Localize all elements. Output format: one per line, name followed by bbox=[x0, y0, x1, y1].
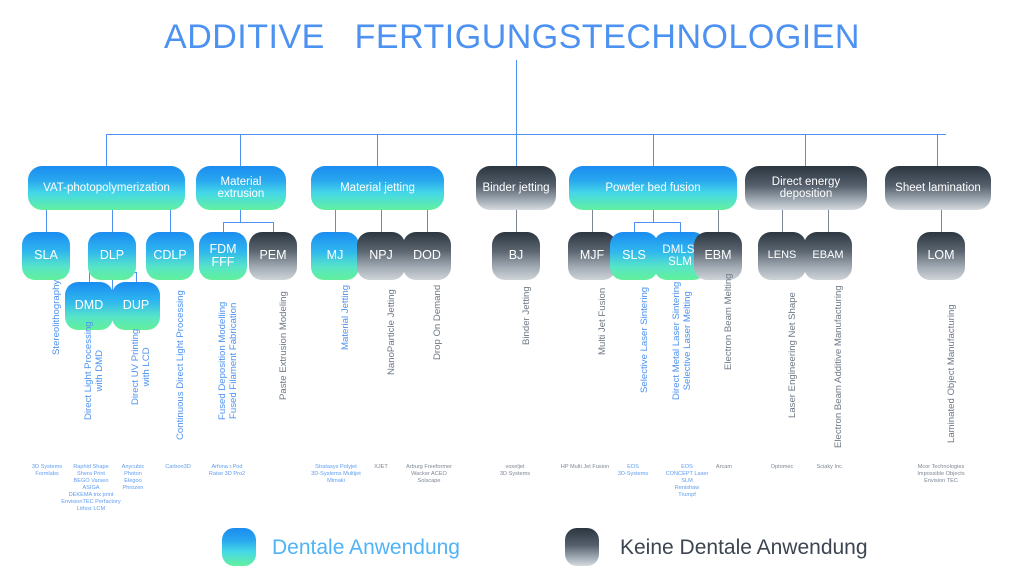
tech-name-fdm-l1: Fused Deposition Modelling bbox=[217, 302, 228, 420]
tech-box-lom[interactable]: LOM bbox=[917, 232, 965, 280]
drop-binder bbox=[516, 134, 517, 166]
vendors-mj: Stratasys Polyjet 3D-Systems Multijet Mi… bbox=[300, 464, 372, 485]
conn-extr-bar bbox=[223, 222, 273, 223]
conn-binder-bj bbox=[516, 210, 517, 232]
tech-name-fdm-l2: Fused Filament Fabrication bbox=[228, 302, 239, 420]
tech-box-lens[interactable]: LENS bbox=[758, 232, 806, 280]
conn-vat-cdlp bbox=[170, 210, 171, 232]
legend-swatch-dental bbox=[222, 528, 256, 566]
tech-name-lom: Laminated Object Manufacturing bbox=[946, 304, 957, 443]
tech-name-ebm: Electron Beam Melting bbox=[723, 273, 734, 370]
tech-name-dod: Drop On Demand bbox=[432, 285, 443, 360]
drop-pbf bbox=[653, 134, 654, 166]
tech-name-dmls-l2: Selective Laser Melting bbox=[682, 282, 693, 400]
legend-label-nondental: Keine Dentale Anwendung bbox=[620, 536, 868, 560]
tech-name-sla: Stereolithography bbox=[51, 280, 62, 355]
conn-ded-ebam bbox=[828, 210, 829, 232]
conn-pbf-bar bbox=[634, 222, 680, 223]
tech-box-dup[interactable]: DUP bbox=[112, 282, 160, 330]
vendors-cdlp: Carbon3D bbox=[155, 464, 201, 471]
conn-vat-dlp bbox=[112, 210, 113, 232]
conn-dlp-dup bbox=[136, 272, 137, 282]
tech-box-npj[interactable]: NPJ bbox=[357, 232, 405, 280]
category-box-sheet[interactable]: Sheet lamination bbox=[885, 166, 991, 210]
vendors-ebm: Arcam bbox=[706, 464, 742, 471]
tech-name-mj: Material Jetting bbox=[340, 285, 351, 350]
tech-label-ebam: EBAM bbox=[812, 250, 843, 262]
tech-label-dmls: DMLS/ SLM bbox=[662, 244, 697, 269]
conn-ded-lens bbox=[782, 210, 783, 232]
tech-name-sls: Selective Laser Sintering bbox=[639, 287, 650, 393]
vendors-lens: Optomec bbox=[760, 464, 804, 471]
tech-name-dmd-l1: Direct Light Processing bbox=[83, 321, 94, 420]
conn-sheet-lom bbox=[941, 210, 942, 232]
tech-box-sla[interactable]: SLA bbox=[22, 232, 70, 280]
vendors-bj: voxeljet 3D Systems bbox=[486, 464, 544, 478]
vendors-fdm: Arfona r.Pod Raise 3D Pro2 bbox=[196, 464, 258, 478]
drop-sheet bbox=[937, 134, 938, 166]
drop-vat bbox=[106, 134, 107, 166]
conn-extr-fdm bbox=[223, 222, 224, 232]
tech-name-mjf: Multi Jet Fusion bbox=[597, 288, 608, 355]
conn-pbf-stem bbox=[653, 210, 654, 222]
conn-mjet-npj bbox=[381, 210, 382, 232]
vendors-ebam: Sciaky Inc. bbox=[808, 464, 852, 471]
conn-vat-sla bbox=[46, 210, 47, 232]
tech-name-dmls-l1: Direct Metal Laser Sintering bbox=[671, 282, 682, 400]
root-trunk-line bbox=[516, 60, 517, 134]
tech-box-dlp[interactable]: DLP bbox=[88, 232, 136, 280]
tech-box-dod[interactable]: DOD bbox=[403, 232, 451, 280]
main-bus-line bbox=[106, 134, 946, 135]
conn-extr-pem bbox=[273, 222, 274, 232]
tech-box-pem[interactable]: PEM bbox=[249, 232, 297, 280]
diagram-canvas: ADDITIVE FERTIGUNGSTECHNOLOGIEN VAT-phot… bbox=[0, 0, 1024, 576]
category-box-extr[interactable]: Material extrusion bbox=[196, 166, 286, 210]
tech-name-pem: Paste Extrusion Modeling bbox=[278, 291, 289, 400]
tech-name-ebam: Electron Beam Additive Manufacturing bbox=[833, 285, 844, 448]
tech-box-ebam[interactable]: EBAM bbox=[804, 232, 852, 280]
drop-ded bbox=[805, 134, 806, 166]
tech-label-lens: LENS bbox=[768, 250, 797, 262]
legend-swatch-nondental bbox=[565, 528, 599, 566]
vendors-sls: EOS 3D-Systems bbox=[606, 464, 660, 478]
tech-name-dup-l2: with LCD bbox=[141, 329, 152, 405]
tech-box-sls[interactable]: SLS bbox=[610, 232, 658, 280]
tech-box-ebm[interactable]: EBM bbox=[694, 232, 742, 280]
conn-pbf-mjf bbox=[592, 210, 593, 232]
category-box-mjet[interactable]: Material jetting bbox=[311, 166, 444, 210]
tech-name-dmd: Direct Light Processing with DMD bbox=[83, 321, 105, 420]
vendors-lom: Mcor Technologies Impossible Objects Env… bbox=[906, 464, 976, 485]
tech-box-fdm[interactable]: FDM FFF bbox=[199, 232, 247, 280]
conn-pbf-sls bbox=[634, 222, 635, 232]
page-title: ADDITIVE FERTIGUNGSTECHNOLOGIEN bbox=[0, 18, 1024, 57]
category-box-vat[interactable]: VAT-photopolymerization bbox=[28, 166, 185, 210]
conn-pbf-dmls bbox=[680, 222, 681, 232]
tech-name-dmls: Direct Metal Laser Sintering Selective L… bbox=[671, 282, 693, 400]
drop-mjet bbox=[377, 134, 378, 166]
conn-extr-stem bbox=[240, 210, 241, 222]
tech-name-cdlp: Continuous Direct Light Processing bbox=[175, 290, 186, 440]
vendors-dup: Anycubic Photon Elegoo Phrozen bbox=[108, 464, 158, 492]
tech-box-mjf[interactable]: MJF bbox=[568, 232, 616, 280]
legend-label-dental: Dentale Anwendung bbox=[272, 536, 460, 560]
tech-name-dmd-l2: with DMD bbox=[94, 321, 105, 420]
vendors-dod: Arburg Freeformer Wacker ACEO Solscape bbox=[392, 464, 466, 485]
tech-name-dup-l1: Direct UV Printing bbox=[130, 329, 141, 405]
tech-name-npj: NanoParticle Jetting bbox=[386, 289, 397, 375]
tech-box-cdlp[interactable]: CDLP bbox=[146, 232, 194, 280]
conn-mjet-mj bbox=[335, 210, 336, 232]
tech-box-bj[interactable]: BJ bbox=[492, 232, 540, 280]
tech-name-lens: Laser Engineering Net Shape bbox=[787, 292, 798, 418]
tech-name-fdm: Fused Deposition Modelling Fused Filamen… bbox=[217, 302, 239, 420]
category-box-ded[interactable]: Direct energy deposition bbox=[745, 166, 867, 210]
tech-box-mj[interactable]: MJ bbox=[311, 232, 359, 280]
tech-name-bj: Binder Jetting bbox=[521, 286, 532, 345]
category-box-binder[interactable]: Binder jetting bbox=[476, 166, 556, 210]
category-box-pbf[interactable]: Powder bed fusion bbox=[569, 166, 737, 210]
conn-mjet-dod bbox=[427, 210, 428, 232]
conn-pbf-ebm bbox=[718, 210, 719, 232]
tech-name-dup: Direct UV Printing with LCD bbox=[130, 329, 152, 405]
tech-label-fdm: FDM FFF bbox=[209, 243, 236, 270]
drop-extr bbox=[240, 134, 241, 166]
